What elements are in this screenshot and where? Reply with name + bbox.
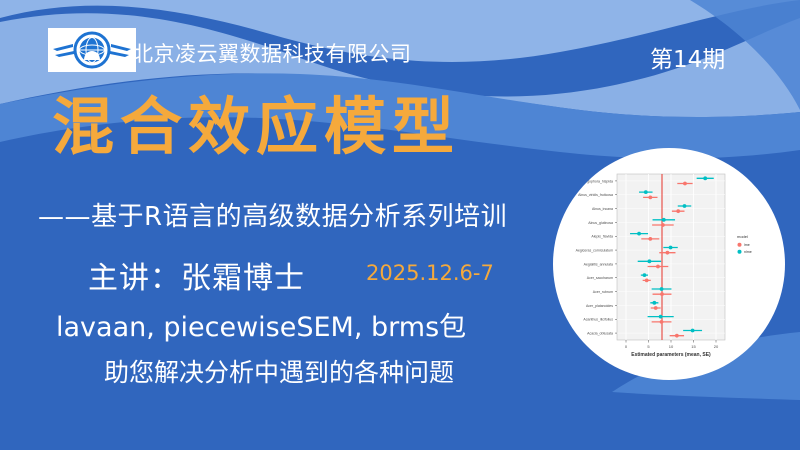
legend-swatch bbox=[738, 243, 742, 247]
point-marker bbox=[644, 190, 648, 194]
point-marker bbox=[643, 273, 647, 277]
y-tick-label: Acer_platanoides bbox=[586, 304, 613, 308]
point-marker bbox=[648, 195, 652, 199]
y-tick-label: Aegiceras_corniculatum bbox=[576, 248, 613, 252]
y-tick-label: Acacia_obtusata bbox=[587, 331, 613, 335]
point-marker bbox=[703, 176, 707, 180]
forest-plot-svg: Angophora_hispidaAlnus_viridis_fruticosa… bbox=[553, 148, 785, 380]
x-tick-label: 15 bbox=[691, 344, 696, 349]
legend-swatch bbox=[738, 250, 742, 254]
point-marker bbox=[683, 204, 687, 208]
point-marker bbox=[656, 265, 660, 269]
y-tick-label: Acer_saccharum bbox=[587, 276, 613, 280]
point-marker bbox=[691, 329, 695, 333]
x-tick-label: 0 bbox=[625, 344, 628, 349]
y-tick-label: Acer_rubrum bbox=[593, 290, 613, 294]
page-title: 混合效应模型 bbox=[52, 96, 460, 158]
x-tick-label: 5 bbox=[647, 344, 650, 349]
y-tick-label: Alepis_flavida bbox=[591, 235, 613, 239]
legend-label: lme bbox=[744, 243, 750, 247]
y-tick-label: Acanthus_ilicifolius bbox=[583, 318, 613, 322]
x-axis-label: Estimated parameters (mean, SE) bbox=[631, 352, 711, 358]
point-marker bbox=[654, 306, 658, 310]
page-subtitle: ——基于R语言的高级数据分析系列培训 bbox=[38, 196, 507, 233]
winged-globe-logo-icon bbox=[51, 30, 133, 70]
issue-badge: 第14期 bbox=[650, 40, 725, 74]
point-marker bbox=[660, 292, 664, 296]
poster-canvas: 北京凌云翼数据科技有限公司 第14期 混合效应模型 ——基于R语言的高级数据分析… bbox=[0, 0, 800, 450]
point-marker bbox=[662, 218, 666, 222]
point-marker bbox=[648, 237, 652, 241]
y-tick-label: Angophora_hispida bbox=[583, 179, 613, 183]
chart-disc: Angophora_hispidaAlnus_viridis_fruticosa… bbox=[553, 148, 785, 380]
tagline: 助您解决分析中遇到的各种问题 bbox=[104, 353, 454, 389]
x-tick-label: 10 bbox=[669, 344, 674, 349]
point-marker bbox=[645, 278, 649, 282]
company-logo bbox=[48, 28, 136, 72]
event-date: 2025.12.6-7 bbox=[366, 261, 494, 285]
y-tick-label: Alnus_incana bbox=[592, 207, 613, 211]
company-name: 北京凌云翼数据科技有限公司 bbox=[132, 38, 412, 68]
point-marker bbox=[683, 182, 687, 186]
point-marker bbox=[659, 315, 663, 319]
legend-label: nlme bbox=[744, 250, 752, 254]
forest-plot: Angophora_hispidaAlnus_viridis_fruticosa… bbox=[553, 148, 785, 380]
point-marker bbox=[648, 259, 652, 263]
y-tick-label: Alnus_viridis_fruticosa bbox=[578, 193, 613, 197]
point-marker bbox=[637, 232, 641, 236]
point-marker bbox=[661, 223, 665, 227]
point-marker bbox=[652, 301, 656, 305]
point-marker bbox=[666, 251, 670, 255]
y-tick-label: Aegialitis_annulata bbox=[584, 262, 613, 266]
legend-title: model bbox=[737, 234, 748, 239]
point-marker bbox=[660, 320, 664, 324]
x-tick-label: 20 bbox=[714, 344, 719, 349]
packages-line: lavaan, piecewiseSEM, brms包 bbox=[56, 305, 466, 344]
speaker-name: 主讲：张霜博士 bbox=[88, 253, 305, 297]
point-marker bbox=[660, 287, 664, 291]
point-marker bbox=[676, 209, 680, 213]
point-marker bbox=[669, 246, 673, 250]
y-tick-label: Alnus_glutinosa bbox=[588, 221, 613, 225]
point-marker bbox=[675, 334, 679, 338]
